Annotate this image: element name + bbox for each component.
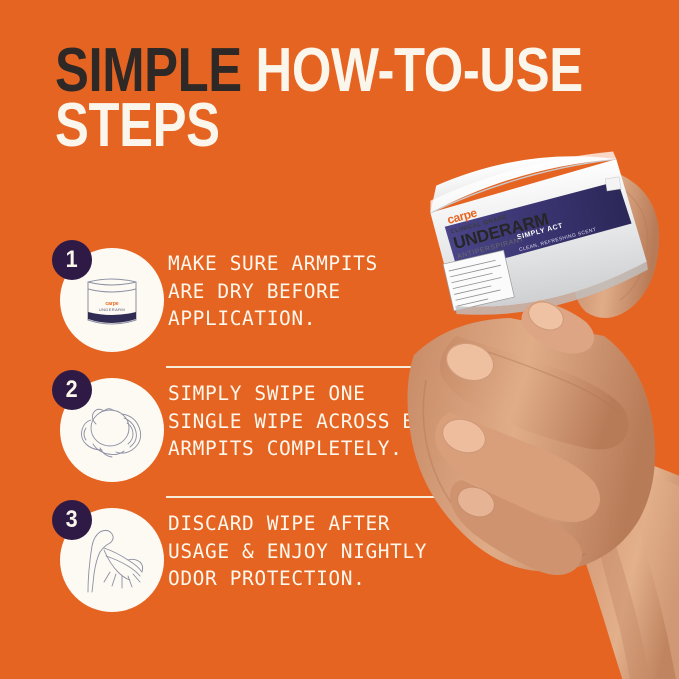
status-badge: 3 [52, 500, 92, 540]
heading-word-how-to-use: HOW-TO-USE [242, 36, 583, 105]
step-3-number: 3 [66, 508, 78, 532]
jar-icon-label: UNDERARM [99, 307, 125, 312]
step-3-text: DISCARD WIPE AFTER USAGE & ENJOY NIGHTLY… [168, 510, 638, 593]
step-1-text: MAKE SURE ARMPITS ARE DRY BEFORE APPLICA… [168, 250, 638, 333]
list-item: 3 DISCARD WIPE AFTER USAGE & ENJOY NIGHT… [0, 492, 679, 622]
step-3-icon-group: 3 [52, 500, 164, 612]
steps-list: carpe UNDERARM 1 MAKE SURE ARMPITS ARE D… [0, 232, 679, 622]
jar-brand-label: carpe [446, 205, 479, 226]
status-badge: 1 [52, 240, 92, 280]
jar-side-label [605, 177, 621, 191]
step-2-icon-group: 2 [52, 370, 164, 482]
divider-1 [166, 366, 511, 368]
step-2-number: 2 [66, 378, 78, 402]
divider-2 [166, 496, 511, 498]
list-item: 2 SIMPLY SWIPE ONE SINGLE WIPE ACROSS BO… [0, 362, 679, 492]
step-2-text: SIMPLY SWIPE ONE SINGLE WIPE ACROSS BOTH… [168, 380, 638, 463]
status-badge: 2 [52, 370, 92, 410]
step-1-icon-group: carpe UNDERARM 1 [52, 240, 164, 352]
step-1-number: 1 [66, 248, 78, 272]
list-item: carpe UNDERARM 1 MAKE SURE ARMPITS ARE D… [0, 232, 679, 362]
heading-line-2: STEPS [55, 99, 514, 154]
how-to-use-poster: SIMPLE HOW-TO-USE STEPS carpe U [0, 0, 679, 679]
page-title: SIMPLE HOW-TO-USE STEPS [55, 44, 615, 153]
thumbnail [579, 172, 630, 216]
